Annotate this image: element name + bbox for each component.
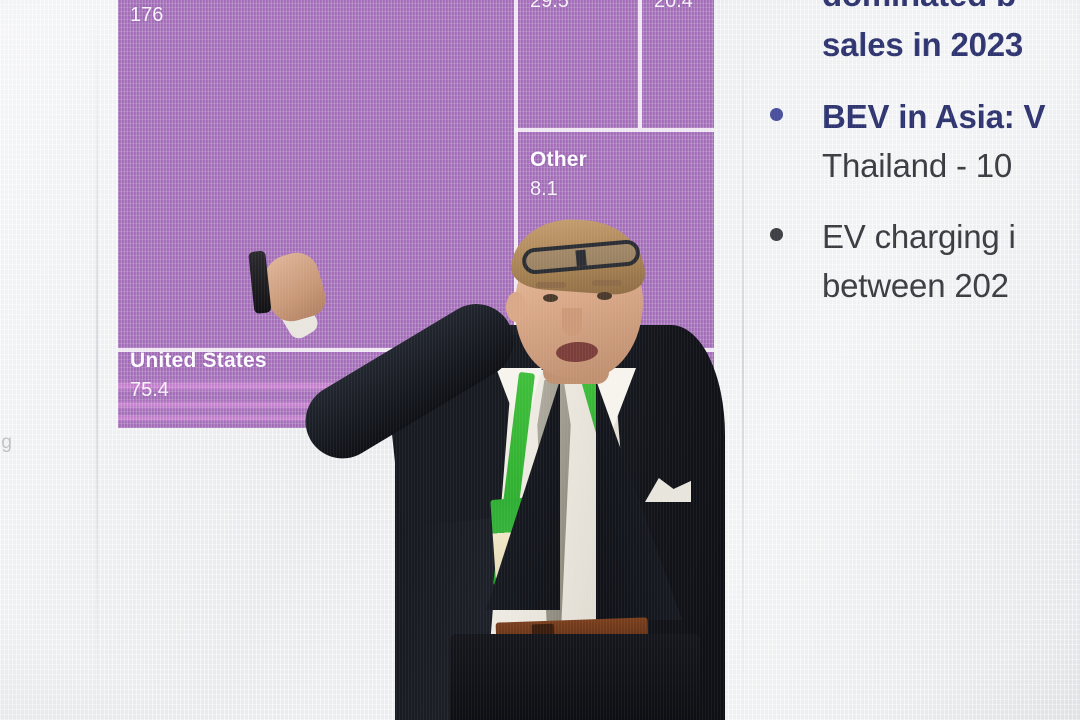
eyebrow-right	[592, 280, 622, 286]
treemap-rule-vertical-small	[638, 0, 642, 128]
bullet-item-2: EV charging i between 202	[758, 212, 1080, 310]
screen-seam-left	[96, 0, 98, 720]
presentation-photo: 176 29.5 20.4 Other 8.1 United States 75…	[0, 0, 1080, 720]
heading-line-2: sales in 2023	[822, 20, 1080, 70]
bullet-2-line-2: between 202	[822, 261, 1080, 310]
treemap-tile-second-value: 29.5	[530, 0, 569, 13]
trousers	[450, 634, 700, 720]
bullet-dot-icon	[770, 108, 783, 121]
bullet-1-line-2: Thailand - 10	[822, 141, 1080, 190]
treemap-tile-largest-value: 176	[130, 4, 163, 27]
heading-line-1: dominated b	[822, 0, 1080, 20]
nose	[562, 308, 582, 336]
eyebrow-left	[536, 282, 566, 288]
bullet-2-line-1: EV charging i	[822, 212, 1080, 261]
bullet-item-1: BEV in Asia: V Thailand - 10	[758, 92, 1080, 190]
treemap-tile-other-value: 8.1	[530, 178, 558, 201]
treemap-tile-third-value: 20.4	[654, 0, 693, 13]
slide-bullet-copy: dominated b sales in 2023 BEV in Asia: V…	[758, 0, 1080, 310]
eye-right	[597, 292, 612, 300]
speaker-presenter: GUEST	[300, 230, 770, 720]
eye-left	[543, 294, 558, 302]
treemap-tile-united-states-label: United States	[130, 352, 267, 373]
treemap-tile-second: 29.5	[518, 0, 638, 128]
treemap-tile-united-states-value: 75.4	[130, 379, 169, 402]
treemap-tile-third: 20.4	[642, 0, 714, 128]
left-edge-axis-label: ing	[0, 432, 12, 454]
treemap-rule-horizontal-other	[514, 128, 714, 132]
ear	[506, 292, 526, 322]
bullet-dot-icon	[770, 228, 783, 241]
treemap-tile-other-label: Other	[530, 148, 587, 172]
bullet-1-line-1: BEV in Asia: V	[822, 92, 1080, 141]
